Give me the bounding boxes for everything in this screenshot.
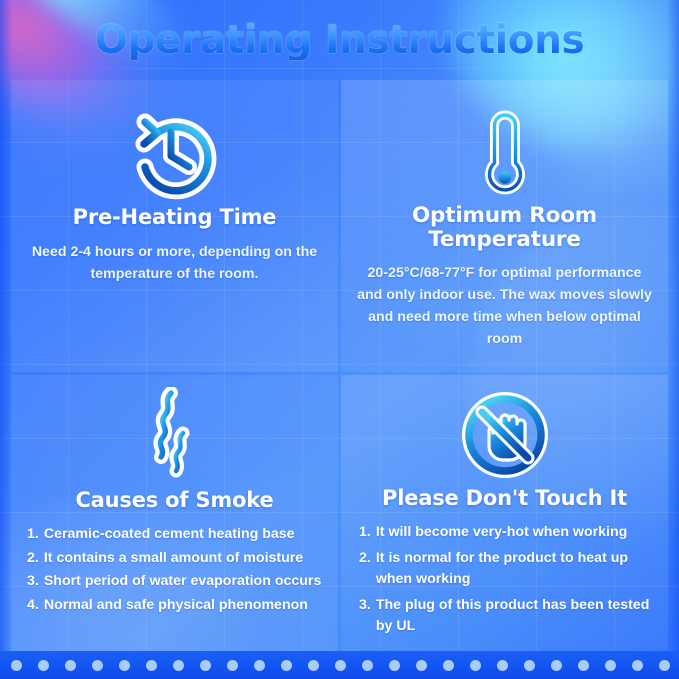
footer-dot (578, 660, 589, 671)
card-title: Pre-Heating Time (73, 206, 277, 229)
footer-dot (443, 660, 454, 671)
page-title-wrapper: Operating Instructions Operating Instruc… (95, 21, 585, 60)
card-body-text: Need 2-4 hours or more, depending on the… (11, 241, 338, 285)
list-item-number: 3. (27, 571, 39, 593)
poster-header: Operating Instructions Operating Instruc… (0, 0, 679, 80)
footer-dot (254, 660, 265, 671)
footer-dot (227, 660, 238, 671)
list-item-text: Normal and safe physical phenomenon (44, 595, 324, 617)
list-item-text: It is normal for the product to heat up … (376, 548, 654, 591)
list-item-text: It contains a small amount of moisture (44, 548, 324, 570)
footer-dot (497, 660, 508, 671)
footer-dot (173, 660, 184, 671)
list-item-text: It will become very-hot when working (376, 522, 654, 544)
list-item-number: 2. (27, 548, 39, 570)
card-causes-of-smoke: Causes of Smoke 1. Ceramic-coated cement… (11, 375, 338, 654)
card-please-dont-touch-it: Please Don't Touch It 1. It will become … (341, 375, 668, 654)
footer-dot (38, 660, 49, 671)
list-item: 2. It contains a small amount of moistur… (27, 548, 324, 570)
footer-dot (11, 660, 22, 671)
list-item-number: 3. (359, 595, 371, 617)
footer-dot (92, 660, 103, 671)
list-item-number: 2. (359, 548, 371, 570)
list-item: 3. The plug of this product has been tes… (359, 595, 654, 638)
list-item-number: 1. (359, 522, 371, 544)
list-item: 1. It will become very-hot when working (359, 522, 654, 544)
footer-dot (632, 660, 643, 671)
causes-of-smoke-list: 1. Ceramic-coated cement heating base 2.… (11, 524, 338, 618)
list-item-number: 4. (27, 595, 39, 617)
footer-dot (119, 660, 130, 671)
no-touch-hand-icon (341, 375, 668, 485)
card-optimum-room-temperature: Optimum Room Temperature 20-25°C/68-77°F… (341, 80, 668, 372)
clock-rotate-icon (11, 80, 338, 206)
list-item: 1. Ceramic-coated cement heating base (27, 524, 324, 546)
right-edge-shade (667, 0, 679, 651)
footer-dot (416, 660, 427, 671)
footer-dot (605, 660, 616, 671)
page-title: Operating Instructions (95, 21, 585, 60)
footer-dot (524, 660, 535, 671)
list-item: 3. Short period of water evaporation occ… (27, 571, 324, 593)
list-item-number: 1. (27, 524, 39, 546)
list-item-text: Ceramic-coated cement heating base (44, 524, 324, 546)
footer-dot (551, 660, 562, 671)
footer-dot-strip (0, 651, 679, 679)
footer-dot (200, 660, 211, 671)
list-item-text: Short period of water evaporation occurs (44, 571, 324, 593)
footer-dot (389, 660, 400, 671)
thermometer-icon (341, 80, 668, 204)
footer-dot (65, 660, 76, 671)
footer-dot (659, 660, 670, 671)
footer-dot (335, 660, 346, 671)
footer-dot (308, 660, 319, 671)
card-title: Optimum Room Temperature (341, 204, 668, 251)
footer-dot (281, 660, 292, 671)
card-body-text: 20-25°C/68-77°F for optimal performance … (341, 262, 668, 350)
operating-instructions-poster: Operating Instructions Operating Instruc… (0, 0, 679, 679)
card-title: Please Don't Touch It (382, 487, 627, 510)
list-item: 2. It is normal for the product to heat … (359, 548, 654, 591)
footer-dot (362, 660, 373, 671)
footer-dot (470, 660, 481, 671)
smoke-icon (11, 375, 338, 487)
card-title: Causes of Smoke (75, 489, 273, 512)
dont-touch-list: 1. It will become very-hot when working … (341, 522, 668, 642)
footer-dot (146, 660, 157, 671)
list-item-text: The plug of this product has been tested… (376, 595, 654, 638)
card-pre-heating-time: Pre-Heating Time Need 2-4 hours or more,… (11, 80, 338, 372)
list-item: 4. Normal and safe physical phenomenon (27, 595, 324, 617)
instruction-card-grid: Pre-Heating Time Need 2-4 hours or more,… (11, 80, 668, 651)
